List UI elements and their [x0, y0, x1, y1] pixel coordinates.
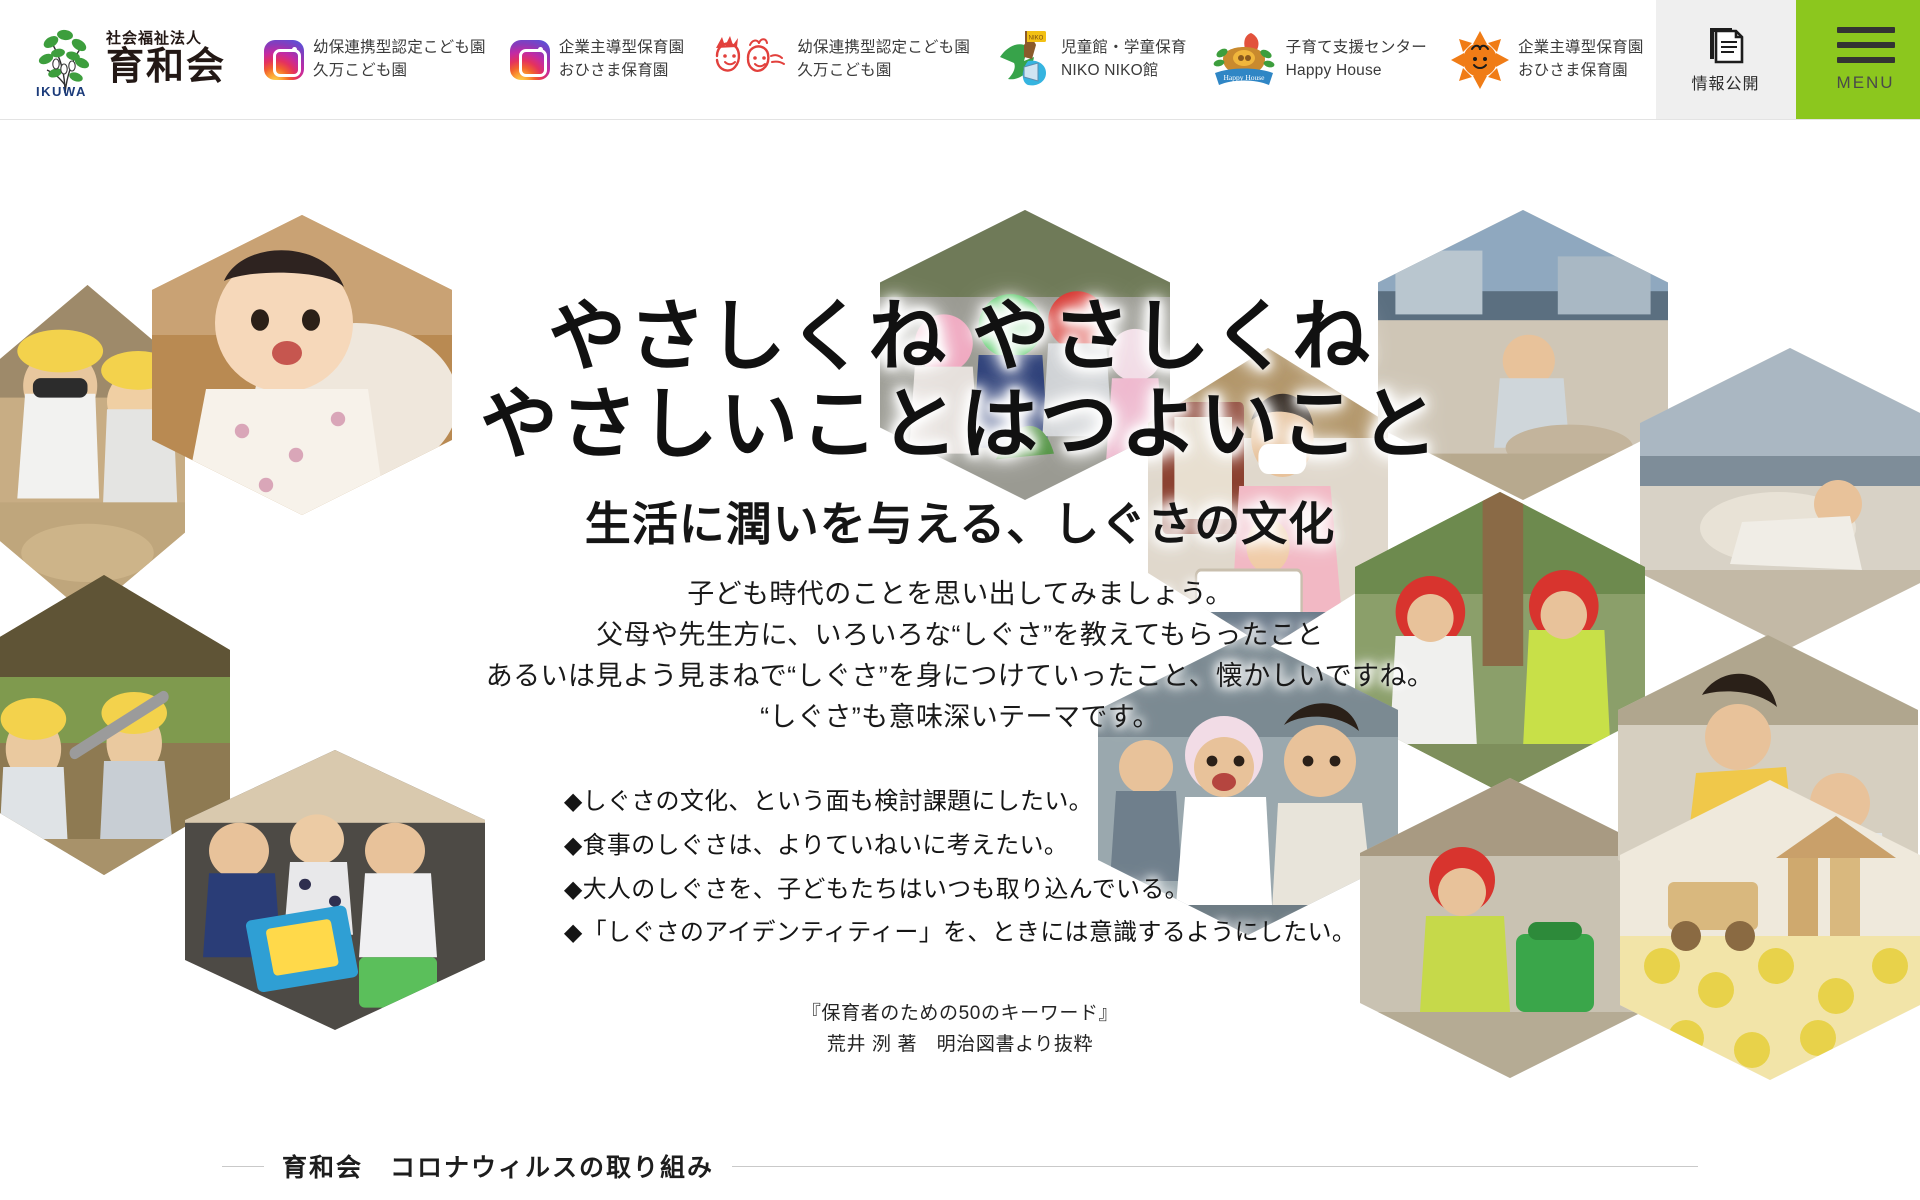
hex-photo: [1360, 778, 1660, 1078]
menu-button[interactable]: MENU: [1796, 0, 1920, 119]
instagram-icon: [510, 40, 550, 80]
hex-photo: [880, 210, 1170, 500]
header-nav: 幼保連携型認定こども園 久万こども園 企業主導型保育園 おひさま保育園: [240, 0, 1656, 119]
site-header: IKUWA 社会福祉法人 育和会 幼保連携型認定こども園 久万こども園 企業主導…: [0, 0, 1920, 120]
hex-photo-collage: [0, 120, 1920, 1130]
nav-item-label: 子育て支援センター Happy House: [1286, 37, 1427, 82]
section-heading: 育和会 コロナウィルスの取り組み: [0, 1148, 1920, 1184]
menu-label: MENU: [1837, 73, 1895, 93]
hex-photo: [1355, 492, 1645, 792]
hex-photo: [1148, 348, 1388, 648]
instagram-icon: [264, 40, 304, 80]
brand-subtitle: 社会福祉法人: [106, 31, 226, 47]
hamburger-icon: [1837, 27, 1895, 63]
plant-logo-icon: IKUWA: [34, 23, 96, 97]
bird-flag-icon: NIKO: [994, 27, 1052, 93]
hex-photo: [152, 215, 452, 515]
brand-romaji: IKUWA: [36, 84, 87, 99]
document-icon: [1706, 25, 1746, 65]
nav-item-ohisama[interactable]: 企業主導型保育園 おひさま保育園: [1439, 0, 1656, 119]
nav-item-instagram-ohisama[interactable]: 企業主導型保育園 おひさま保育園: [498, 0, 697, 119]
svg-text:NIKO: NIKO: [1029, 35, 1044, 41]
sun-face-icon: [1451, 31, 1509, 89]
nav-item-label: 幼保連携型認定こども園 久万こども園: [313, 37, 486, 82]
hex-photo: [185, 750, 485, 1030]
nav-item-label: 幼保連携型認定こども園 久万こども園: [797, 37, 970, 82]
hero-section: やさしくね やさしくね やさしいことはつよいこと 生活に潤いを与える、しぐさの文…: [0, 120, 1920, 1130]
nav-item-label: 企業主導型保育園 おひさま保育園: [1518, 37, 1644, 82]
nav-item-happy-house[interactable]: Happy House 子育て支援センター Happy House: [1199, 0, 1439, 119]
hex-photo: [1378, 210, 1668, 500]
brand-logo[interactable]: IKUWA 社会福祉法人 育和会: [0, 0, 240, 119]
svg-text:Happy House: Happy House: [1223, 73, 1265, 82]
nav-item-nikoniko[interactable]: NIKO 児童館・学童保育 NIKO NIKO館: [982, 0, 1199, 119]
nav-item-label: 企業主導型保育園 おひさま保育園: [559, 37, 685, 82]
section-rule-left: [222, 1166, 264, 1167]
info-disclosure-label: 情報公開: [1692, 70, 1760, 94]
two-children-faces-icon: [708, 34, 788, 86]
nav-item-instagram-kuma[interactable]: 幼保連携型認定こども園 久万こども園: [252, 0, 498, 119]
brand-title: 育和会: [106, 48, 226, 88]
section-rule-right: [732, 1166, 1698, 1167]
hex-photo: [1098, 635, 1398, 935]
corona-section: 育和会 コロナウィルスの取り組み: [0, 1130, 1920, 1184]
section-title: 育和会 コロナウィルスの取り組み: [282, 1148, 714, 1184]
nav-item-label: 児童館・学童保育 NIKO NIKO館: [1061, 37, 1187, 82]
info-disclosure-button[interactable]: 情報公開: [1656, 0, 1796, 119]
hex-photo: [1640, 348, 1920, 648]
nest-happy-house-icon: Happy House: [1211, 27, 1277, 93]
nav-item-kuma-kodomoen[interactable]: 幼保連携型認定こども園 久万こども園: [696, 0, 982, 119]
